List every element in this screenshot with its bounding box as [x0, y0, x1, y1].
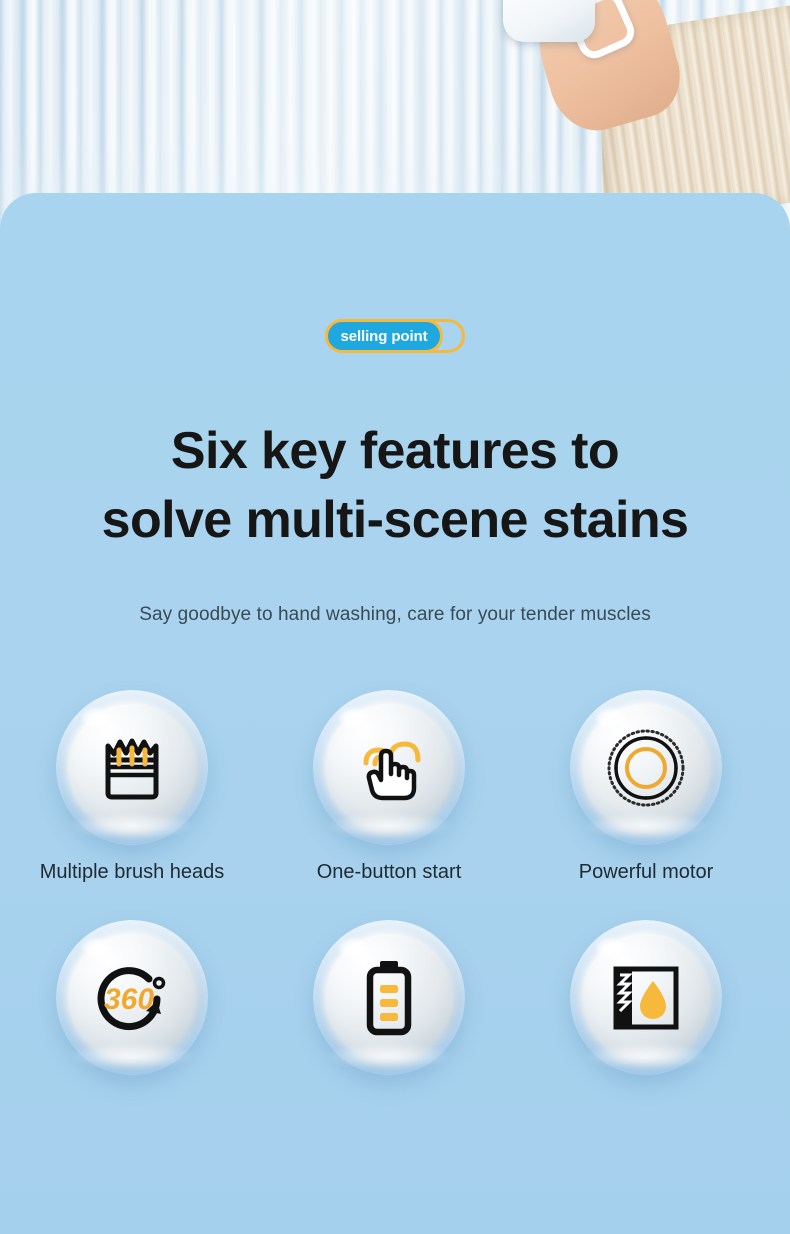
page-subtitle: Say goodbye to hand washing, care for yo…	[0, 604, 790, 626]
feature-item-powerful-motor[interactable]: Powerful motor	[521, 690, 771, 884]
feature-item-360-rotation[interactable]: 360	[7, 920, 257, 1091]
water-droplet-fabric-icon	[606, 961, 686, 1035]
feature-label: Powerful motor	[579, 861, 714, 884]
page-title-line-2: solve multi-scene stains	[0, 486, 790, 555]
feature-card: selling point Six key features to solve …	[0, 193, 790, 1234]
one-touch-hand-icon	[350, 730, 428, 806]
feature-label: Multiple brush heads	[40, 861, 225, 884]
battery-icon	[361, 957, 417, 1039]
feature-orb	[570, 920, 722, 1075]
feature-item-water-droplet-fabric[interactable]	[521, 920, 771, 1091]
feature-item-brush-heads[interactable]: Multiple brush heads	[7, 690, 257, 884]
hand-holding-device	[490, 0, 790, 200]
selling-point-badge-wrap: selling point	[0, 319, 790, 353]
svg-text:360: 360	[104, 983, 154, 1016]
page-title-line-1: Six key features to	[171, 422, 619, 480]
product-feature-page: selling point Six key features to solve …	[0, 0, 790, 1234]
feature-item-battery[interactable]	[264, 920, 514, 1091]
selling-point-badge: selling point	[325, 319, 465, 353]
feature-orb	[56, 690, 208, 845]
page-title: Six key features to solve multi-scene st…	[0, 417, 790, 555]
feature-orb	[313, 690, 465, 845]
feature-orb	[570, 690, 722, 845]
feature-grid: Multiple brush heads One-button start	[0, 690, 790, 1091]
feature-orb: 360	[56, 920, 208, 1075]
feature-orb	[313, 920, 465, 1075]
brush-head-icon	[94, 733, 170, 803]
360-degree-rotation-icon: 360	[91, 959, 173, 1037]
device-handle	[503, 0, 595, 42]
motor-rotor-icon	[605, 727, 687, 809]
selling-point-badge-label: selling point	[340, 328, 427, 345]
selling-point-badge-inner: selling point	[325, 319, 443, 353]
feature-item-one-button-start[interactable]: One-button start	[264, 690, 514, 884]
feature-label: One-button start	[317, 861, 462, 884]
